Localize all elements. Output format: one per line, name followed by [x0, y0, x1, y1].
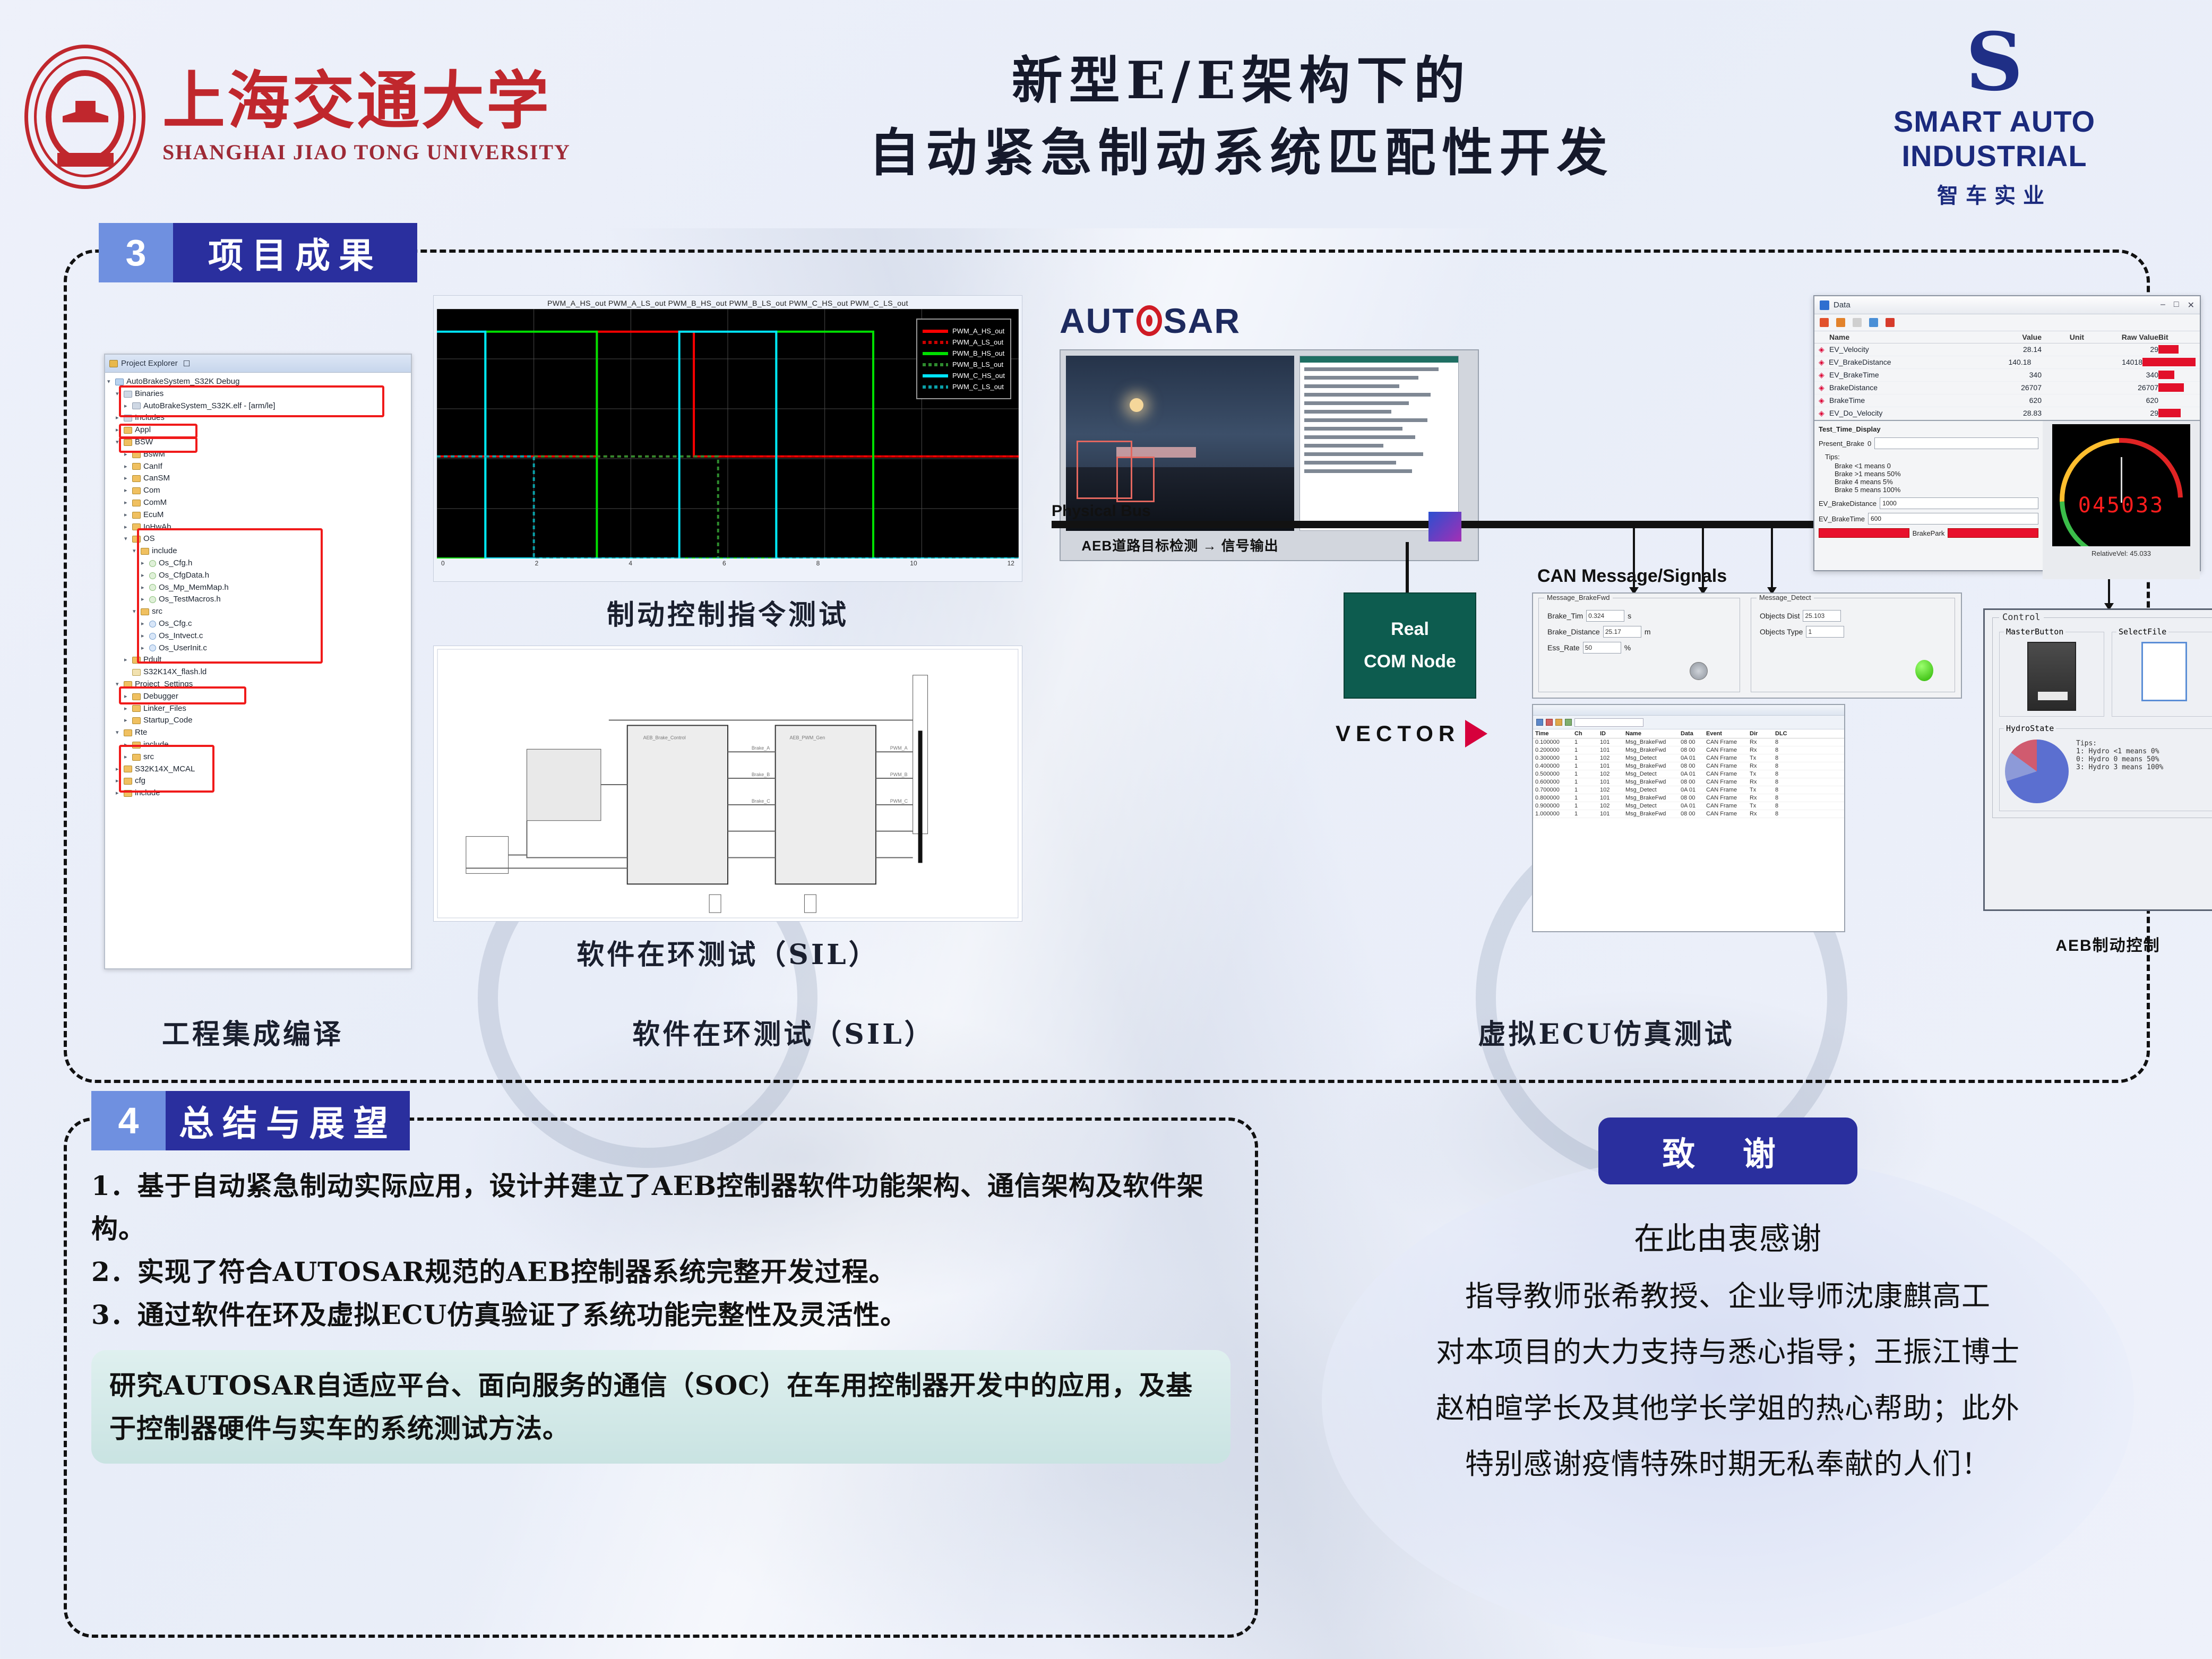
hydro-tip-item: 0: Hydro 0 means 50% [2076, 755, 2163, 763]
trace-cell: 1 [1574, 739, 1593, 745]
tree-node[interactable]: ▸ComM [107, 497, 409, 509]
trace-cell: 8 [1775, 763, 1793, 769]
tree-expand-icon[interactable]: ▸ [141, 583, 147, 592]
can-field[interactable]: Objects Dist25.103 [1760, 610, 1955, 622]
drop-line-2 [1702, 525, 1704, 592]
brake-time-field[interactable]: EV_BrakeTime 600 [1819, 513, 2038, 525]
tree-node-label: include [152, 545, 177, 557]
trace-cell: 8 [1775, 811, 1793, 817]
tree-expand-icon[interactable]: ▸ [116, 777, 121, 786]
trace-col-header: ID [1600, 730, 1618, 737]
tree-node[interactable]: ▸Includes [107, 412, 409, 424]
tree-expand-icon[interactable]: ▸ [141, 559, 147, 568]
tree-expand-icon[interactable]: ▸ [116, 426, 121, 435]
drop-line-1 [1633, 525, 1635, 592]
simulink-model-window[interactable]: AEB_Brake_Control AEB_PWM_Gen Brake_ABra… [433, 646, 1022, 922]
trace-row[interactable]: 0.5000001102Msg_Detect0A 01CAN FrameTx8 [1533, 770, 1844, 778]
signal-icon: ◈ [1819, 345, 1829, 354]
can-field[interactable]: Brake_Distance25.17m [1547, 626, 1740, 638]
can-field-input[interactable]: 50 [1583, 642, 1621, 654]
trace-stop-icon[interactable] [1546, 719, 1553, 726]
can-message-panel[interactable]: Message_BrakeFwd Brake_Tim0.324sBrake_Di… [1532, 592, 1962, 699]
tree-node[interactable]: ▸BswM [107, 449, 409, 461]
tree-expand-icon[interactable]: ▸ [124, 462, 130, 471]
folder-icon [124, 427, 132, 434]
brake-park-label: BrakePark [1913, 529, 1945, 537]
signal-name: EV_Velocity [1829, 345, 1978, 354]
tree-expand-icon[interactable]: ▸ [124, 402, 130, 411]
hydro-tip-item: 1: Hydro <1 means 0% [2076, 747, 2163, 755]
legend-swatch [923, 352, 948, 355]
select-file-icon[interactable] [2141, 642, 2187, 701]
can-field-input[interactable]: 0.324 [1586, 610, 1624, 622]
real-com-node: Real COM Node [1344, 592, 1476, 699]
tree-node-label: Includes [135, 412, 165, 424]
tree-node-label: src [152, 606, 162, 618]
sjtu-seal-icon [21, 42, 149, 191]
tree-expand-icon[interactable]: ▸ [124, 656, 130, 665]
legend-swatch [923, 341, 948, 344]
signal-raw-value: 340 [2084, 371, 2158, 380]
trace-toolbar[interactable] [1533, 716, 1844, 729]
tab-close-icon[interactable]: ☐ [183, 359, 190, 368]
can-field-input[interactable]: 25.103 [1803, 610, 1841, 622]
add-signal-icon[interactable] [1820, 318, 1829, 327]
copy-icon[interactable] [1869, 318, 1878, 327]
data-window-toolbar[interactable] [1814, 314, 2200, 331]
can-trace-window[interactable]: TimeChIDNameDataEventDirDLC 0.1000001101… [1532, 704, 1845, 932]
tree-node-label: Binaries [135, 388, 163, 400]
signal-table[interactable]: Name Value Unit Raw Value Bit ◈EV_Veloci… [1814, 331, 2200, 420]
tree-expand-icon[interactable]: ▸ [116, 414, 121, 423]
trace-cell: Msg_Detect [1625, 803, 1673, 809]
tree-expand-icon[interactable]: ▸ [141, 595, 147, 604]
aeb-detection-panel[interactable]: AEB道路目标检测 → 信号输出 [1060, 349, 1479, 561]
master-button-box[interactable]: MasterButton [1999, 632, 2104, 717]
edit-signal-icon[interactable] [1836, 318, 1845, 327]
aeb-caption: AEB道路目标检测 → 信号输出 [1066, 535, 1294, 555]
tree-node[interactable]: ▸CanSM [107, 472, 409, 485]
folder-icon [132, 512, 141, 519]
brake-bar-right[interactable] [1948, 528, 2038, 538]
can-field[interactable]: Objects Type1 [1760, 626, 1955, 638]
trace-export-icon[interactable] [1565, 719, 1572, 726]
brake-park-row[interactable]: BrakePark [1819, 528, 2038, 538]
tree-expand-icon[interactable]: ▾ [116, 728, 121, 737]
acknowledgement-line: 在此由衷感谢 [1290, 1209, 2166, 1269]
can-field-input[interactable]: 25.17 [1603, 626, 1641, 638]
message-brakefwd-title: Message_BrakeFwd [1544, 594, 1613, 601]
tree-node[interactable]: ▸AutoBrakeSystem_S32K.elf - [arm/le] [107, 400, 409, 412]
test-time-display-panel[interactable]: Test_Time_Display Present_Brake 0 Tips: … [1814, 421, 2043, 579]
trace-cell: Msg_Detect [1625, 771, 1673, 777]
tree-expand-icon[interactable]: ▸ [124, 498, 130, 508]
tree-expand-icon[interactable]: ▸ [116, 789, 121, 798]
trace-row[interactable]: 0.4000001101Msg_BrakeFwd08 00CAN FrameRx… [1533, 762, 1844, 770]
caption-sil: 软件在环测试（SIL） [438, 1012, 1129, 1052]
tree-node[interactable]: ▾Rte [107, 727, 409, 739]
tree-node-label: Rte [135, 727, 147, 739]
brake-distance-input[interactable]: 1000 [1880, 497, 2038, 509]
tree-expand-icon[interactable]: ▾ [116, 438, 121, 447]
tree-node[interactable]: ▸cfg [107, 775, 409, 787]
legend-label: PWM_A_LS_out [952, 338, 1003, 346]
signal-icon: ◈ [1819, 371, 1829, 380]
trace-cell: 101 [1600, 739, 1618, 745]
tree-node[interactable]: ▾OS [107, 533, 409, 545]
trace-cell: 8 [1775, 755, 1793, 761]
trace-row[interactable]: 0.7000001102Msg_Detect0A 01CAN FrameTx8 [1533, 786, 1844, 794]
signal-raw-value: 29 [2084, 409, 2158, 418]
tree-expand-icon[interactable]: ▾ [133, 607, 138, 616]
trace-cell: 102 [1600, 803, 1618, 809]
project-tree[interactable]: ▾AutoBrakeSystem_S32K Debug▾Binaries▸Aut… [105, 373, 411, 803]
tree-node-label: Os_Intvect.c [159, 630, 203, 642]
trace-title-bar[interactable] [1533, 705, 1844, 716]
rotary-knob-icon[interactable] [1690, 662, 1708, 680]
tree-node[interactable]: ▸Pdult [107, 654, 409, 666]
folder-icon [132, 536, 141, 543]
tree-node-label: Linker_Files [143, 703, 186, 715]
svg-text:AEB_Brake_Control: AEB_Brake_Control [643, 735, 686, 740]
can-field-unit: m [1645, 628, 1651, 636]
tree-expand-icon[interactable]: ▸ [124, 692, 130, 701]
pwm-waveform-window[interactable]: PWM_A_HS_out PWM_A_LS_out PWM_B_HS_out P… [433, 295, 1022, 582]
autosar-logo: AUTSAR [1060, 300, 1479, 341]
tree-node-label: Appl [135, 424, 151, 436]
signal-row[interactable]: ◈BrakeTime620620 [1814, 394, 2200, 407]
tree-expand-icon[interactable]: ▸ [124, 753, 130, 762]
present-brake-label: Present_Brake [1819, 440, 1864, 448]
bin-icon [132, 402, 141, 409]
folder-icon [132, 475, 141, 482]
trace-row[interactable]: 0.6000001101Msg_BrakeFwd08 00CAN FrameRx… [1533, 778, 1844, 786]
tips-title: Tips: [1825, 453, 2038, 461]
x-tick-label: 12 [1008, 560, 1014, 567]
trace-cell: CAN Frame [1706, 787, 1742, 793]
trace-col-header: Ch [1574, 730, 1593, 737]
master-button-icon[interactable] [2027, 642, 2076, 711]
can-field[interactable]: Brake_Tim0.324s [1547, 610, 1740, 622]
tree-expand-icon[interactable]: ▾ [107, 377, 113, 386]
tree-node-label: CanIf [143, 461, 162, 473]
summary-item: 1．基于自动紧急制动实际应用，设计并建立了AEB控制器软件功能架构、通信架构及软… [91, 1164, 1230, 1250]
signal-row[interactable]: ◈BrakeDistance2670726707 [1814, 382, 2200, 394]
trace-cell: Msg_BrakeFwd [1625, 795, 1673, 801]
hydro-state-dial-icon[interactable] [2005, 740, 2069, 803]
trace-cell: 8 [1775, 787, 1793, 793]
select-file-box[interactable]: SelectFile [2112, 632, 2212, 717]
aeb-code-pane[interactable] [1299, 356, 1459, 531]
trace-cell: 08 00 [1681, 763, 1699, 769]
tree-node[interactable]: ▸Os_TestMacros.h [107, 594, 409, 606]
company-mark-icon: S [1798, 24, 2191, 100]
tree-node[interactable]: S32K14X_flash.ld [107, 666, 409, 678]
tree-node[interactable]: ▸include [107, 787, 409, 800]
trace-cell: 1 [1574, 747, 1593, 753]
gateway-node-icon [1428, 512, 1461, 541]
tree-node-label: Os_CfgData.h [159, 570, 209, 582]
trace-col-header: Data [1681, 730, 1699, 737]
chart-x-axis: 024681012 [437, 558, 1019, 567]
h-icon [149, 596, 156, 603]
tree-expand-icon[interactable]: ▸ [141, 644, 147, 653]
speed-gauge-panel: 045033 RelativeVel: 45.033 [2043, 421, 2200, 579]
trace-row[interactable]: 0.8000001101Msg_BrakeFwd08 00CAN FrameRx… [1533, 794, 1844, 802]
tree-node[interactable]: ▾BSW [107, 436, 409, 449]
signal-bit-bar [2142, 358, 2196, 367]
legend-item: PWM_A_LS_out [923, 338, 1005, 346]
tree-node-label: EcuM [143, 509, 163, 521]
can-field-input[interactable]: 1 [1806, 626, 1844, 638]
can-field-label: Objects Dist [1760, 612, 1800, 620]
h-icon [149, 560, 156, 567]
tree-expand-icon[interactable]: ▸ [141, 632, 147, 641]
trace-cell: CAN Frame [1706, 755, 1742, 761]
tree-node[interactable]: ▾Binaries [107, 388, 409, 400]
x-tick-label: 6 [722, 560, 726, 567]
trace-cell: 102 [1600, 755, 1618, 761]
x-tick-label: 4 [629, 560, 632, 567]
h-icon [149, 584, 156, 591]
trace-cell: Msg_Detect [1625, 755, 1673, 761]
tree-expand-icon[interactable]: ▸ [124, 741, 130, 750]
trace-cell: CAN Frame [1706, 779, 1742, 785]
legend-swatch [923, 385, 948, 389]
trace-cell: 1 [1574, 811, 1593, 817]
close-button[interactable]: ✕ [2188, 300, 2194, 311]
trace-cell: CAN Frame [1706, 803, 1742, 809]
acknowledgement-line: 对本项目的大力支持与悉心指导；王振江博士 [1290, 1325, 2166, 1380]
trace-cell: 101 [1600, 747, 1618, 753]
trace-cell: 08 00 [1681, 779, 1699, 785]
brake-time-label: EV_BrakeTime [1819, 515, 1865, 523]
svg-text:PWM_A: PWM_A [890, 745, 908, 751]
tree-expand-icon[interactable]: ▸ [124, 474, 130, 483]
tree-node[interactable]: ▾include [107, 545, 409, 557]
delete-icon[interactable] [1886, 318, 1895, 327]
signal-icon: ◈ [1819, 409, 1829, 418]
tree-node[interactable]: ▸Os_UserInit.c [107, 642, 409, 655]
acknowledgement-title: 致 谢 [1598, 1118, 1857, 1184]
tree-node-label: AutoBrakeSystem_S32K.elf - [arm/le] [143, 400, 275, 412]
tree-node-label: include [143, 739, 169, 751]
signal-row[interactable]: ◈EV_Velocity28.1429 [1814, 343, 2200, 356]
legend-label: PWM_C_HS_out [952, 372, 1005, 380]
folder-icon [132, 717, 141, 724]
tree-expand-icon[interactable]: ▸ [124, 511, 130, 520]
tree-expand-icon[interactable]: ▸ [141, 571, 147, 580]
tree-node[interactable]: ▾AutoBrakeSystem_S32K Debug [107, 376, 409, 388]
ecu-control-caption: AEB制动控制 [1983, 932, 2212, 956]
signal-unit [2042, 371, 2084, 380]
x-tick-label: 10 [910, 560, 917, 567]
trace-cell: 0.900000 [1535, 803, 1567, 809]
project-explorer-window[interactable]: Project Explorer ☐ ▾AutoBrakeSystem_S32K… [104, 354, 412, 969]
section-summary-outlook: 4 总结与展望 1．基于自动紧急制动实际应用，设计并建立了AEB控制器软件功能架… [64, 1118, 1258, 1638]
tree-node[interactable]: ▸IoHwAb [107, 521, 409, 534]
tree-node[interactable]: ▸Com [107, 485, 409, 497]
tip-item: Brake 5 means 100% [1835, 486, 2038, 494]
trace-row[interactable]: 1.0000001101Msg_BrakeFwd08 00CAN FrameRx… [1533, 810, 1844, 818]
hydro-state-label: HydroState [2004, 724, 2056, 733]
gauge-note: RelativeVel: 45.033 [2046, 549, 2197, 557]
tree-expand-icon[interactable]: ▸ [124, 704, 130, 714]
maximize-button[interactable]: □ [2174, 300, 2179, 311]
company-logo: S SMART AUTO INDUSTRIAL 智车实业 [1798, 24, 2191, 210]
tree-expand-icon[interactable]: ▸ [124, 486, 130, 495]
tree-expand-icon[interactable]: ▸ [116, 765, 121, 774]
project-explorer-tab[interactable]: Project Explorer ☐ [105, 355, 411, 373]
tree-node[interactable]: ▾Project_Settings [107, 678, 409, 691]
trace-row[interactable]: 0.3000001102Msg_Detect0A 01CAN FrameTx8 [1533, 754, 1844, 762]
trace-record-icon[interactable] [1536, 719, 1543, 726]
trace-cell: CAN Frame [1706, 811, 1742, 817]
tree-node[interactable]: ▸Os_Intvect.c [107, 630, 409, 642]
signal-icon: ◈ [1819, 383, 1829, 392]
tree-node[interactable]: ▸CanIf [107, 461, 409, 473]
tree-node[interactable]: ▸src [107, 751, 409, 763]
col-value: Value [1978, 333, 2042, 341]
folder-icon [132, 500, 141, 506]
legend-label: PWM_B_LS_out [952, 360, 1003, 368]
present-brake-field[interactable]: Present_Brake 0 [1819, 437, 2038, 449]
folder-icon [124, 681, 132, 688]
signal-rows[interactable]: ◈EV_Velocity28.1429◈EV_BrakeDistance140.… [1814, 343, 2200, 420]
chart-plot-area[interactable]: PWM_A_HS_outPWM_A_LS_outPWM_B_HS_outPWM_… [437, 309, 1019, 558]
control-group: Control MasterButton SelectFile HydroSta… [1992, 617, 2212, 818]
trace-row[interactable]: 0.2000001101Msg_BrakeFwd08 00CAN FrameRx… [1533, 746, 1844, 754]
section3-badge: 3 项目成果 [99, 223, 417, 282]
tree-node[interactable]: ▾src [107, 606, 409, 618]
tree-expand-icon[interactable]: ▾ [124, 535, 130, 544]
tree-expand-icon[interactable]: ▸ [124, 523, 130, 532]
trace-cell: Rx [1750, 739, 1768, 745]
brakefwd-fields[interactable]: Brake_Tim0.324sBrake_Distance25.17mEss_R… [1539, 598, 1740, 654]
trace-col-header: Name [1625, 730, 1673, 737]
trace-cell: Msg_BrakeFwd [1625, 739, 1673, 745]
sjtu-logo: 上海交通大学 SHANGHAI JIAO TONG UNIVERSITY [21, 42, 685, 191]
project-explorer-title: Project Explorer [121, 359, 178, 368]
tree-node[interactable]: ▸EcuM [107, 509, 409, 521]
signal-row[interactable]: ◈EV_BrakeDistance140.1814018 [1814, 356, 2200, 369]
folder-icon [132, 487, 141, 494]
tree-expand-icon[interactable]: ▸ [124, 450, 130, 459]
trace-filter-icon[interactable] [1555, 719, 1562, 726]
signal-bit-bar [2158, 383, 2196, 392]
data-window-lower[interactable]: Test_Time_Display Present_Brake 0 Tips: … [1814, 420, 2200, 579]
trace-cell: 0A 01 [1681, 803, 1699, 809]
tree-node[interactable]: ▸Os_Cfg.c [107, 618, 409, 630]
tree-expand-icon[interactable]: ▾ [133, 547, 138, 556]
data-window-title-bar[interactable]: Data – □ ✕ [1814, 296, 2200, 314]
h-icon [149, 572, 156, 579]
tree-expand-icon[interactable]: ▸ [124, 716, 130, 725]
tree-node[interactable]: ▸Appl [107, 424, 409, 436]
ecu-control-panel[interactable]: Control MasterButton SelectFile HydroSta… [1983, 608, 2212, 911]
c-icon [149, 644, 156, 651]
tree-node[interactable]: ▸Startup_Code [107, 715, 409, 727]
trace-cell: 8 [1775, 779, 1793, 785]
trace-cell: Rx [1750, 779, 1768, 785]
tree-node[interactable]: ▸Os_CfgData.h [107, 570, 409, 582]
status-led-icon [1915, 660, 1933, 681]
svg-text:AEB_PWM_Gen: AEB_PWM_Gen [790, 735, 825, 740]
signal-raw-value: 620 [2084, 396, 2158, 405]
trace-cell: Msg_BrakeFwd [1625, 763, 1673, 769]
can-field-label: Ess_Rate [1547, 643, 1580, 652]
tree-node[interactable]: ▸Os_Mp_MemMap.h [107, 582, 409, 594]
physical-bus-label: Physical Bus [1052, 502, 1151, 520]
tree-node[interactable]: ▸include [107, 739, 409, 751]
brake-bar-left[interactable] [1819, 528, 1909, 538]
can-field-label: Brake_Distance [1547, 628, 1600, 636]
poster-title-line1: 新型E/E架构下的 [685, 45, 1798, 117]
message-brakefwd-group: Message_BrakeFwd Brake_Tim0.324sBrake_Di… [1538, 598, 1740, 692]
can-field-unit: s [1628, 612, 1631, 620]
com-node-stem [1406, 542, 1409, 592]
brake-time-input[interactable]: 600 [1868, 513, 2038, 525]
signal-row[interactable]: ◈EV_Do_Velocity28.8329 [1814, 407, 2200, 420]
trace-row[interactable]: 0.9000001102Msg_Detect0A 01CAN FrameTx8 [1533, 802, 1844, 810]
tree-node-label: BSW [135, 436, 153, 449]
signal-name: BrakeTime [1829, 396, 1978, 405]
folder-icon [132, 451, 141, 458]
sort-icon[interactable] [1853, 318, 1862, 327]
tip-item: Brake 4 means 5% [1835, 478, 2038, 486]
chart-legend: PWM_A_HS_outPWM_A_LS_outPWM_B_HS_outPWM_… [916, 319, 1011, 399]
tree-node-label: S32K14X_flash.ld [143, 666, 206, 678]
hydro-tips-list: 1: Hydro <1 means 0%0: Hydro 0 means 50%… [2076, 747, 2163, 771]
trace-cell: 101 [1600, 795, 1618, 801]
folder-icon [132, 693, 141, 700]
tree-node[interactable]: ▸Debugger [107, 691, 409, 703]
can-message-label: CAN Message/Signals [1537, 566, 1727, 587]
section4-badge: 4 总结与展望 [91, 1091, 410, 1150]
trace-cell: Tx [1750, 771, 1768, 777]
summary-item: 2．实现了符合AUTOSAR规范的AEB控制器系统完整开发过程。 [91, 1250, 1230, 1293]
trace-row[interactable]: 0.1000001101Msg_BrakeFwd08 00CAN FrameRx… [1533, 738, 1844, 746]
tree-node[interactable]: ▸S32K14X_MCAL [107, 763, 409, 776]
summary-list: 1．基于自动紧急制动实际应用，设计并建立了AEB控制器软件功能架构、通信架构及软… [91, 1164, 1230, 1336]
tree-node[interactable]: ▸Os_Cfg.h [107, 557, 409, 570]
detect-fields[interactable]: Objects Dist25.103Objects Type1 [1751, 598, 1955, 638]
data-window[interactable]: Data – □ ✕ Name Value Unit Raw Value Bit [1813, 295, 2201, 571]
trace-cell: 1 [1574, 771, 1593, 777]
tree-expand-icon[interactable]: ▾ [116, 680, 121, 689]
trace-cell: 08 00 [1681, 747, 1699, 753]
svg-text:PWM_C: PWM_C [890, 798, 908, 804]
signal-unit [2042, 396, 2084, 405]
trace-search-input[interactable] [1574, 718, 1643, 727]
tree-node[interactable]: ▸Linker_Files [107, 703, 409, 715]
tree-expand-icon[interactable]: ▸ [141, 620, 147, 629]
present-brake-input[interactable] [1874, 437, 2038, 449]
trace-col-header: Event [1706, 730, 1742, 737]
caption-integration: 工程集成编译 [67, 1012, 438, 1052]
trace-rows[interactable]: 0.1000001101Msg_BrakeFwd08 00CAN FrameRx… [1533, 738, 1844, 818]
brake-distance-field[interactable]: EV_BrakeDistance 1000 [1819, 497, 2038, 509]
tree-expand-icon[interactable]: ▾ [116, 390, 121, 399]
signal-row[interactable]: ◈EV_BrakeTime340340 [1814, 369, 2200, 382]
signal-unit [2042, 345, 2084, 354]
minimize-button[interactable]: – [2161, 300, 2165, 311]
can-field[interactable]: Ess_Rate50% [1547, 642, 1740, 654]
com-node-line1: Real [1391, 619, 1429, 640]
signal-value: 340 [1978, 371, 2042, 380]
summary-item: 3．通过软件在环及虚拟ECU仿真验证了系统功能完整性及灵活性。 [91, 1293, 1230, 1336]
col-bit: Bit [2158, 333, 2196, 341]
